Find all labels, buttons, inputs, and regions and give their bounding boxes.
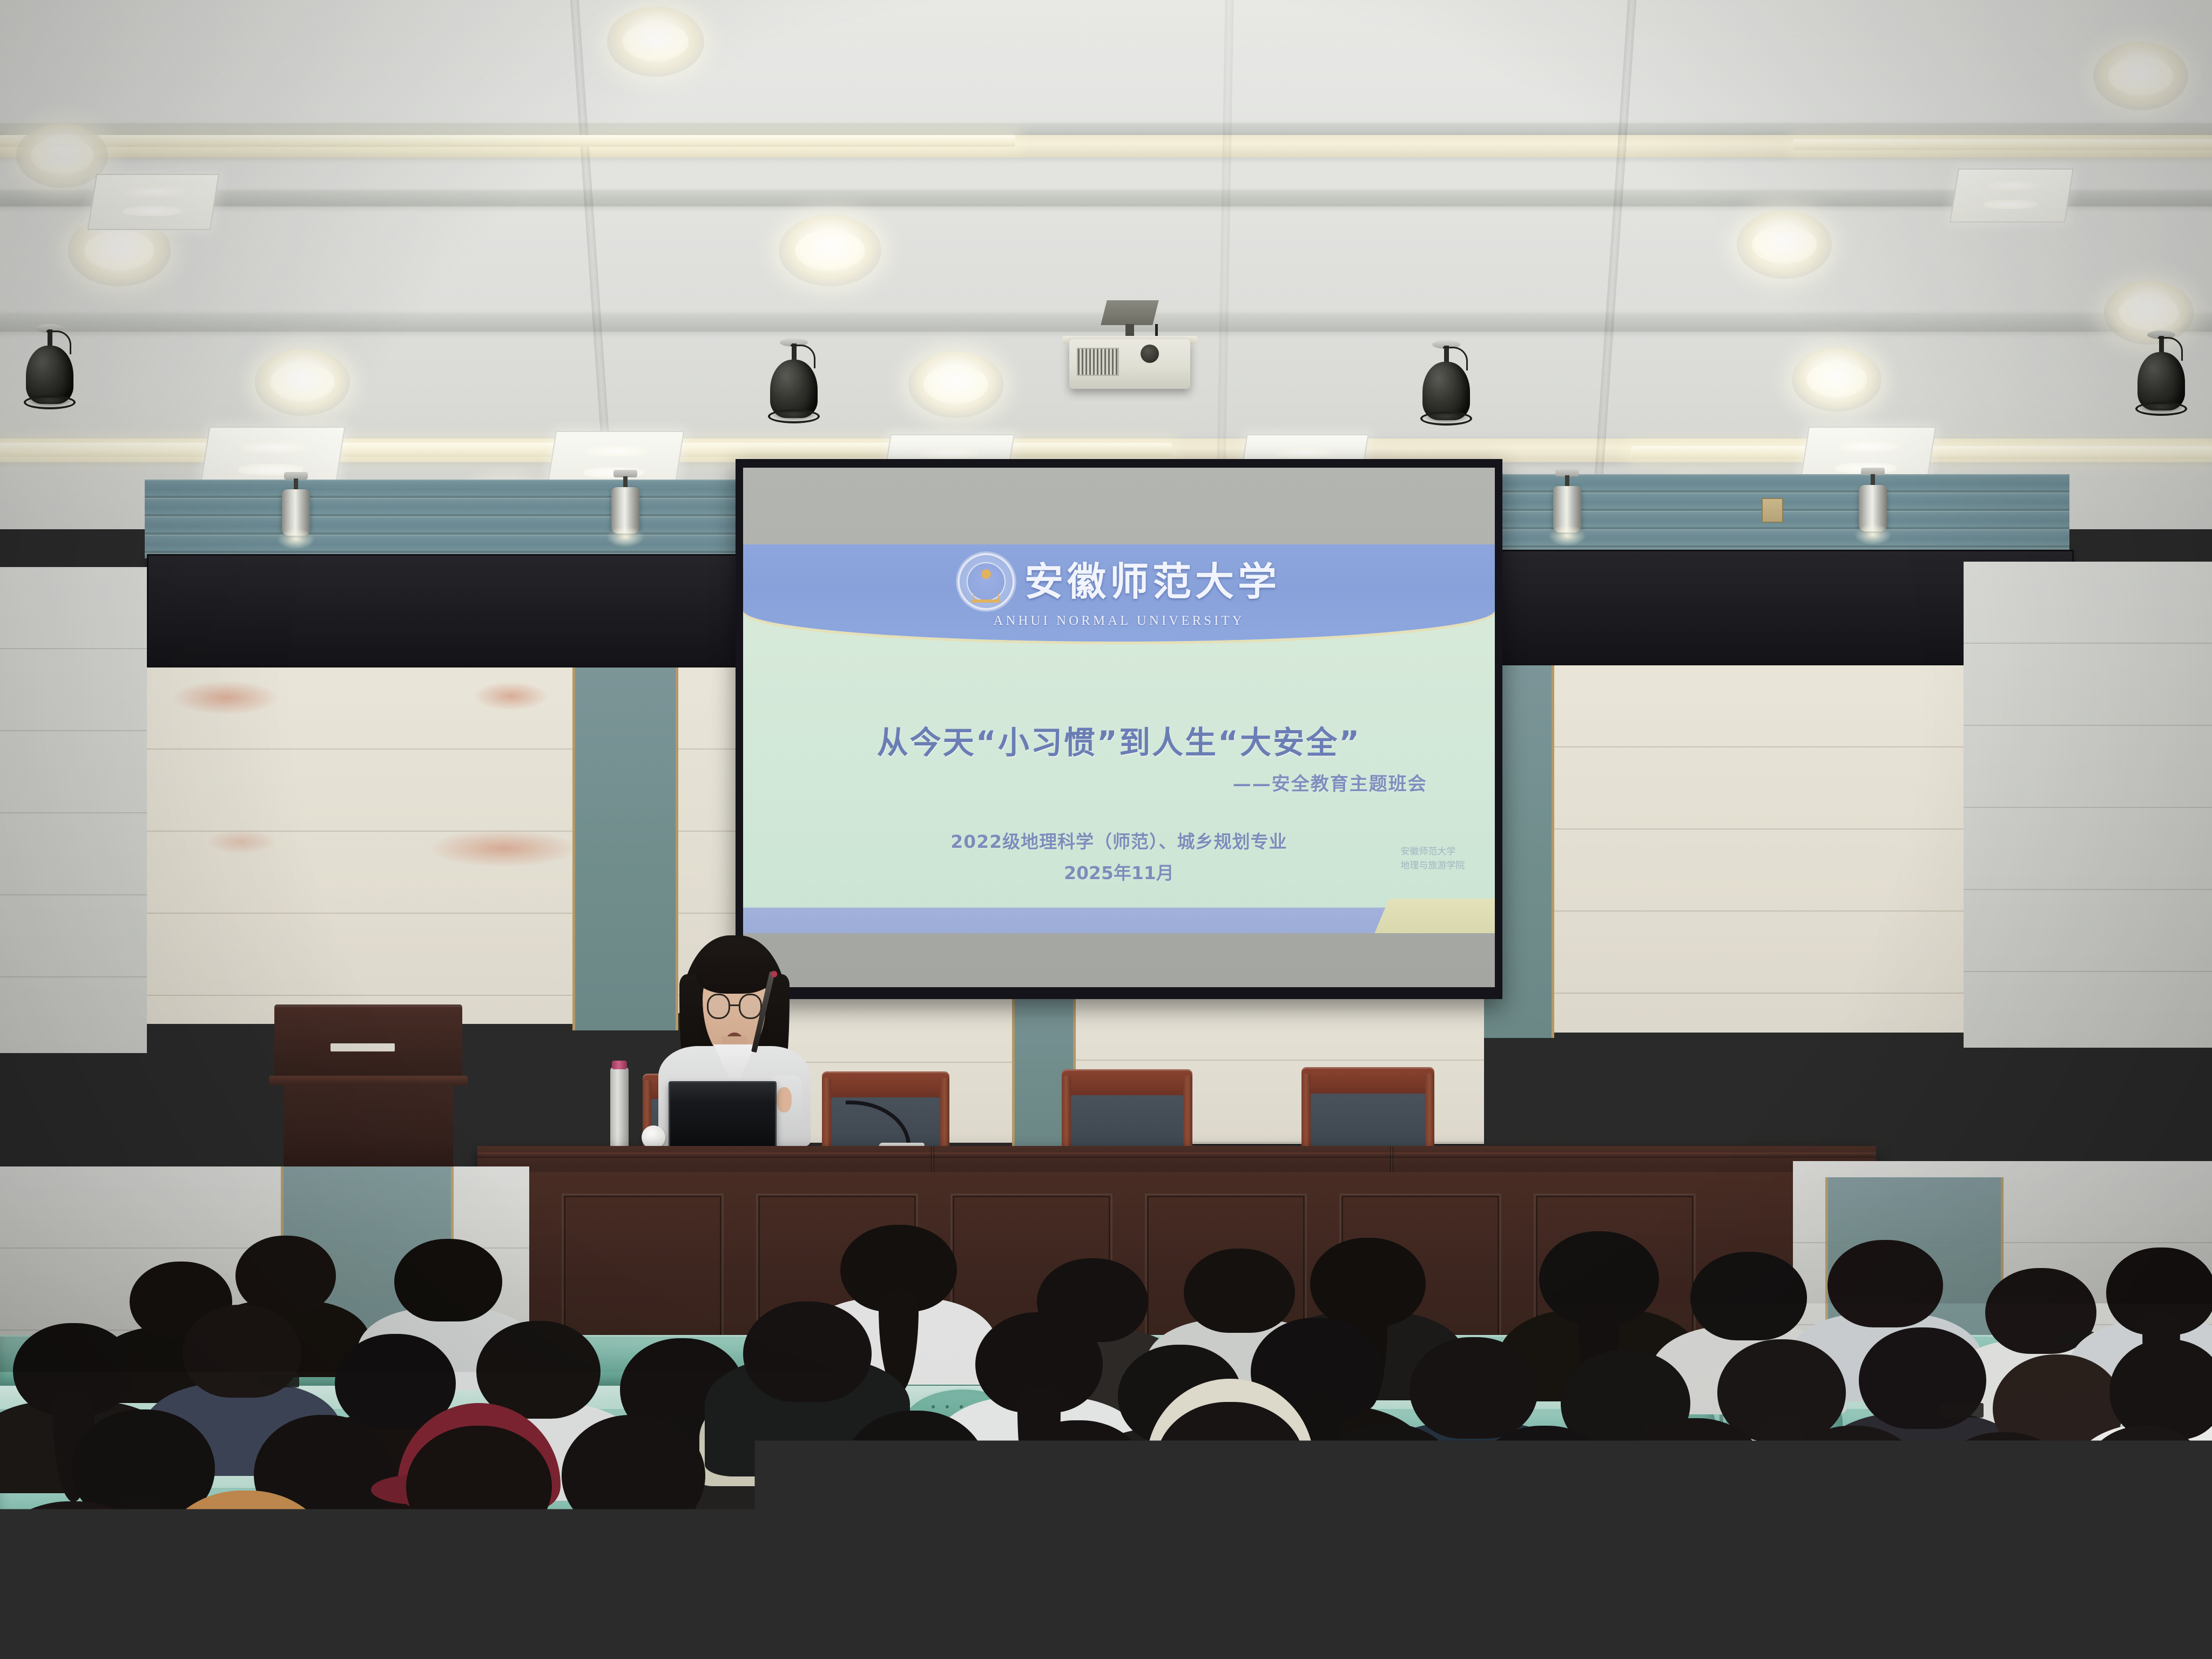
- presenter-glasses: [707, 994, 762, 1019]
- audience-member: [157, 1491, 335, 1659]
- audience-member: [1105, 1524, 1286, 1659]
- stage-spotlight: [2134, 336, 2188, 428]
- university-name-en: ANHUI NORMAL UNIVERSITY: [743, 613, 1495, 629]
- left-wall-panel: [147, 667, 574, 1024]
- left-teal-column: [572, 667, 678, 1030]
- right-wall-panel: [1553, 665, 1964, 1033]
- presentation-slide: 安徽师范大学 ANHUI NORMAL UNIVERSITY 从今天“小习惯”到…: [743, 544, 1495, 933]
- slide-audience-line: 2022级地理科学（师范）、城乡规划专业: [743, 827, 1495, 853]
- gooseneck-microphone: [846, 1101, 911, 1150]
- wall-socket: [1762, 498, 1783, 523]
- stage-spotlight: [23, 329, 77, 421]
- left-valance: [147, 554, 769, 667]
- audience-member: [1458, 1534, 1642, 1659]
- audience-member: [2011, 1539, 2212, 1659]
- screen-surface: 安徽师范大学 ANHUI NORMAL UNIVERSITY 从今天“小习惯”到…: [743, 468, 1495, 987]
- audience-member: [693, 1510, 877, 1659]
- lectern: [274, 1004, 462, 1166]
- university-logo-row: 安徽师范大学: [743, 553, 1495, 610]
- slide-watermark: 安徽师范大学 地理与旅游学院: [1400, 845, 1465, 872]
- lecture-hall-photo: 安徽师范大学 ANHUI NORMAL UNIVERSITY 从今天“小习惯”到…: [0, 0, 2212, 1659]
- stage-spotlight: [767, 343, 821, 435]
- audience-member: [513, 1519, 691, 1659]
- wall-spotlight: [604, 470, 647, 551]
- thermos-flask: [993, 1624, 1040, 1659]
- right-grey-panel: [1964, 562, 2212, 1048]
- wall-spotlight: [274, 472, 318, 553]
- thermos-flask: [902, 1636, 954, 1659]
- audience-member: [1825, 1528, 2011, 1659]
- slide-date-line: 2025年11月: [743, 859, 1495, 885]
- slide-footer-accent: [1374, 899, 1495, 933]
- slide-subtitle: ——安全教育主题班会: [1233, 769, 1427, 795]
- cola-bottle: 可口可乐: [1415, 1655, 1467, 1659]
- stage-spotlight: [1419, 346, 1473, 437]
- audience-member: [1281, 1515, 1465, 1659]
- university-seal-icon: [957, 553, 1015, 610]
- university-name-cn: 安徽师范大学: [1024, 562, 1280, 601]
- audience-member: [335, 1510, 513, 1659]
- wall-spotlight: [1546, 469, 1589, 550]
- left-grey-panel: [0, 567, 147, 1053]
- audience-seating: 可口可乐: [0, 1210, 2212, 1659]
- slide-watermark-line-1: 安徽师范大学: [1400, 845, 1465, 859]
- teal-slat-band: [145, 480, 766, 558]
- slide-title: 从今天“小习惯”到人生“大安全”: [743, 717, 1495, 763]
- slide-watermark-line-2: 地理与旅游学院: [1400, 859, 1465, 873]
- presenter-laptop: [669, 1081, 777, 1149]
- ceiling: [0, 0, 2212, 529]
- slide-header-banner: 安徽师范大学 ANHUI NORMAL UNIVERSITY: [743, 544, 1495, 642]
- projection-screen: 安徽师范大学 ANHUI NORMAL UNIVERSITY 从今天“小习惯”到…: [736, 459, 1502, 999]
- ceiling-projector: [1054, 300, 1205, 408]
- audience-member: [1638, 1523, 1824, 1659]
- wall-spotlight: [1851, 468, 1894, 549]
- desk-water-bottle: [610, 1067, 629, 1149]
